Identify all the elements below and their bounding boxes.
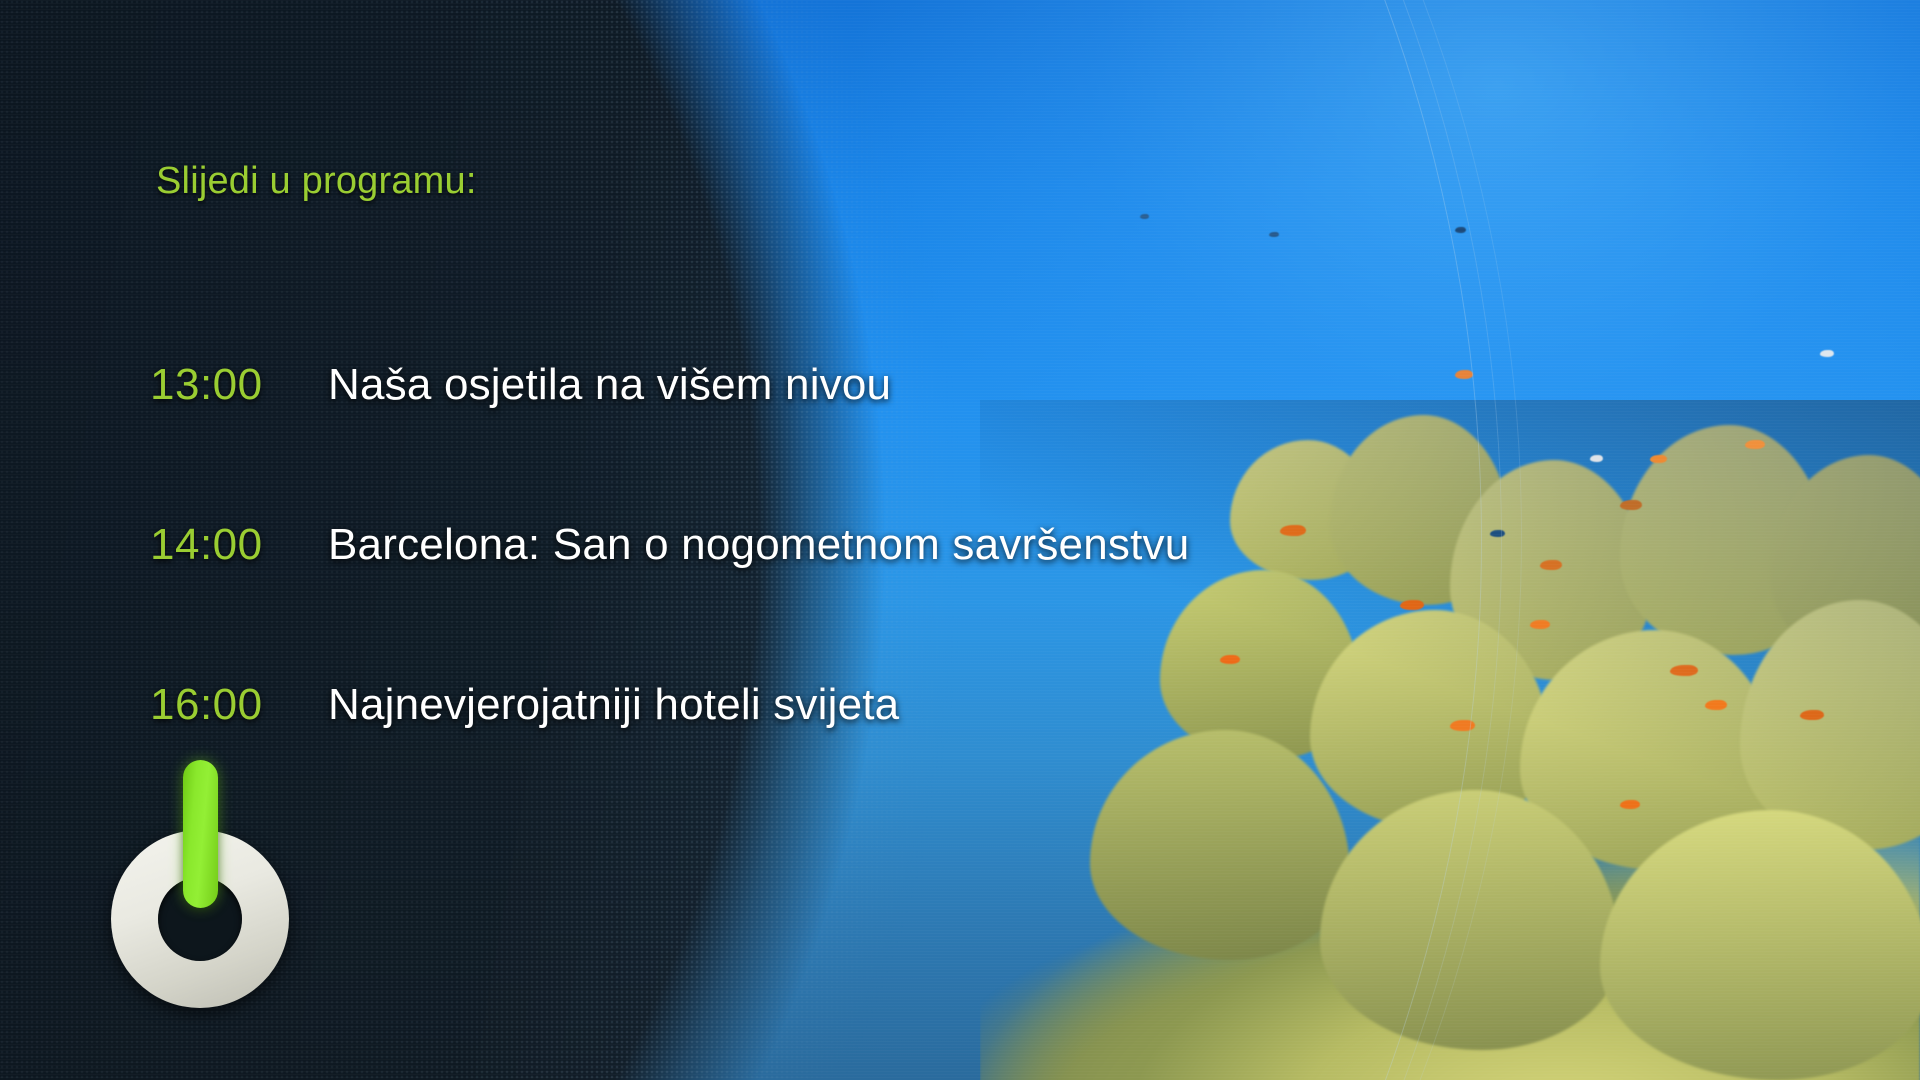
tv-screen: Slijedi u programu: 13:00 Naša osjetila … <box>0 0 1920 1080</box>
program-time: 16:00 <box>150 680 328 730</box>
program-title: Naša osjetila na višem nivou <box>328 360 891 410</box>
list-item[interactable]: 13:00 Naša osjetila na višem nivou <box>0 360 1240 520</box>
program-title: Barcelona: San o nogometnom savršenstvu <box>328 520 1189 570</box>
power-icon-bar <box>183 760 218 908</box>
program-time: 13:00 <box>150 360 328 410</box>
open-water-fish <box>1620 800 1640 809</box>
list-item[interactable]: 14:00 Barcelona: San o nogometnom savrše… <box>0 520 1240 680</box>
program-time: 14:00 <box>150 520 328 570</box>
open-water-fish <box>1650 455 1667 463</box>
page-title: Slijedi u programu: <box>156 160 477 203</box>
open-water-fish <box>1590 455 1603 462</box>
guide-content: Slijedi u programu: 13:00 Naša osjetila … <box>0 0 1240 1080</box>
program-title: Najnevjerojatniji hoteli svijeta <box>328 680 899 730</box>
power-icon <box>105 760 305 1010</box>
open-water-fish <box>1745 440 1765 449</box>
open-water-fish <box>1705 700 1727 710</box>
open-water-fish <box>1530 620 1550 629</box>
open-water-fish <box>1820 350 1834 357</box>
